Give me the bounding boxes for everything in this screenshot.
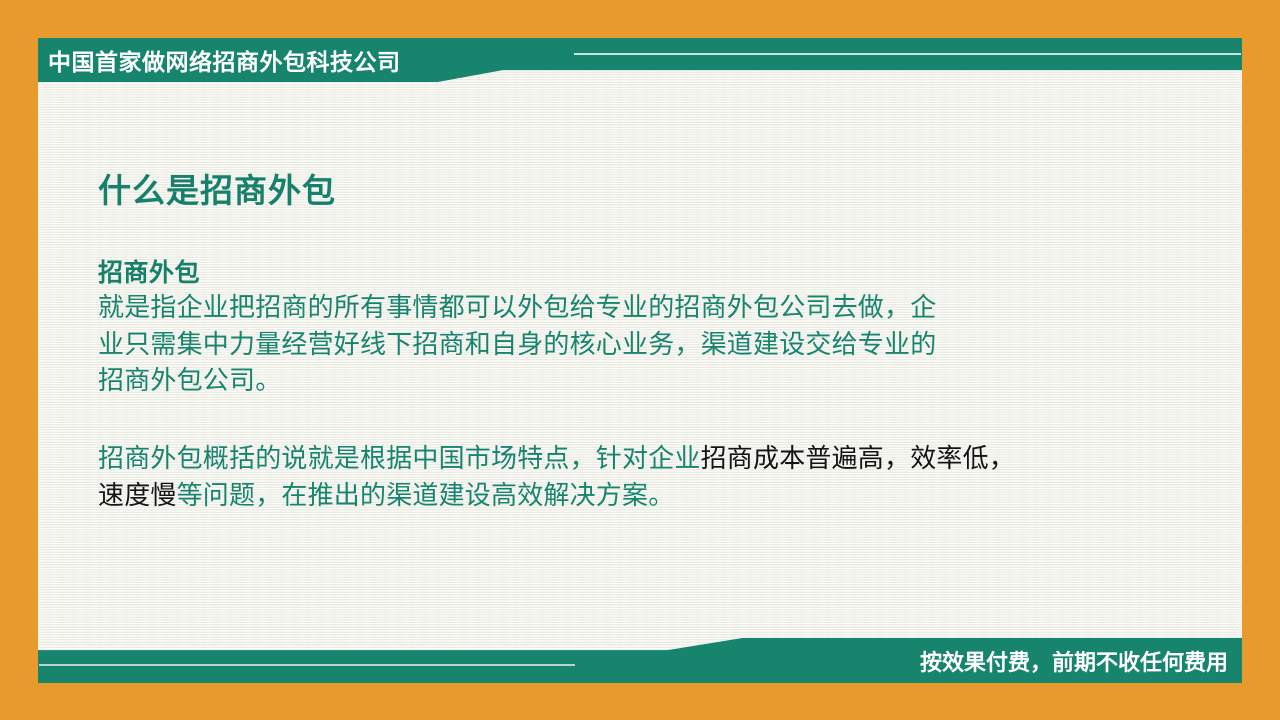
page-title: 什么是招商外包 [98,170,1228,211]
paragraph-summary-line-1-teal: 招商外包概括的说就是根据中国市场特点，针对企业 [98,443,701,473]
slide: 中国首家做网络招商外包科技公司 什么是招商外包 招商外包 就是指企业把招商的所有… [0,0,1280,720]
sub-heading: 招商外包 [98,257,1228,289]
slide-body: 什么是招商外包 招商外包 就是指企业把招商的所有事情都可以外包给专业的招商外包公… [98,170,1228,513]
paragraph-summary-line-1-dark: 招商成本普遍高，效率低， [701,443,1015,473]
paragraph-summary: 招商外包概括的说就是根据中国市场特点，针对企业招商成本普遍高，效率低， 速度慢等… [98,440,1228,513]
paragraph-definition-line-1: 就是指企业把招商的所有事情都可以外包给专业的招商外包公司去做，企 [98,292,936,322]
paragraph-summary-line-2-teal: 等问题，在推出的渠道建设高效解决方案。 [177,480,675,510]
footer-divider-line [39,664,575,666]
paragraph-definition-line-3: 招商外包公司。 [98,365,281,395]
header-title: 中国首家做网络招商外包科技公司 [48,38,401,82]
paragraph-definition: 就是指企业把招商的所有事情都可以外包给专业的招商外包公司去做，企 业只需集中力量… [98,289,1228,398]
header-band: 中国首家做网络招商外包科技公司 [38,38,1242,82]
paragraph-summary-line-2-dark: 速度慢 [98,480,177,510]
paragraph-definition-line-2: 业只需集中力量经营好线下招商和自身的核心业务，渠道建设交给专业的 [98,329,936,359]
footer-tagline: 按效果付费，前期不收任何费用 [920,638,1228,683]
footer-band: 按效果付费，前期不收任何费用 [38,638,1242,683]
header-divider-line [574,53,1241,55]
